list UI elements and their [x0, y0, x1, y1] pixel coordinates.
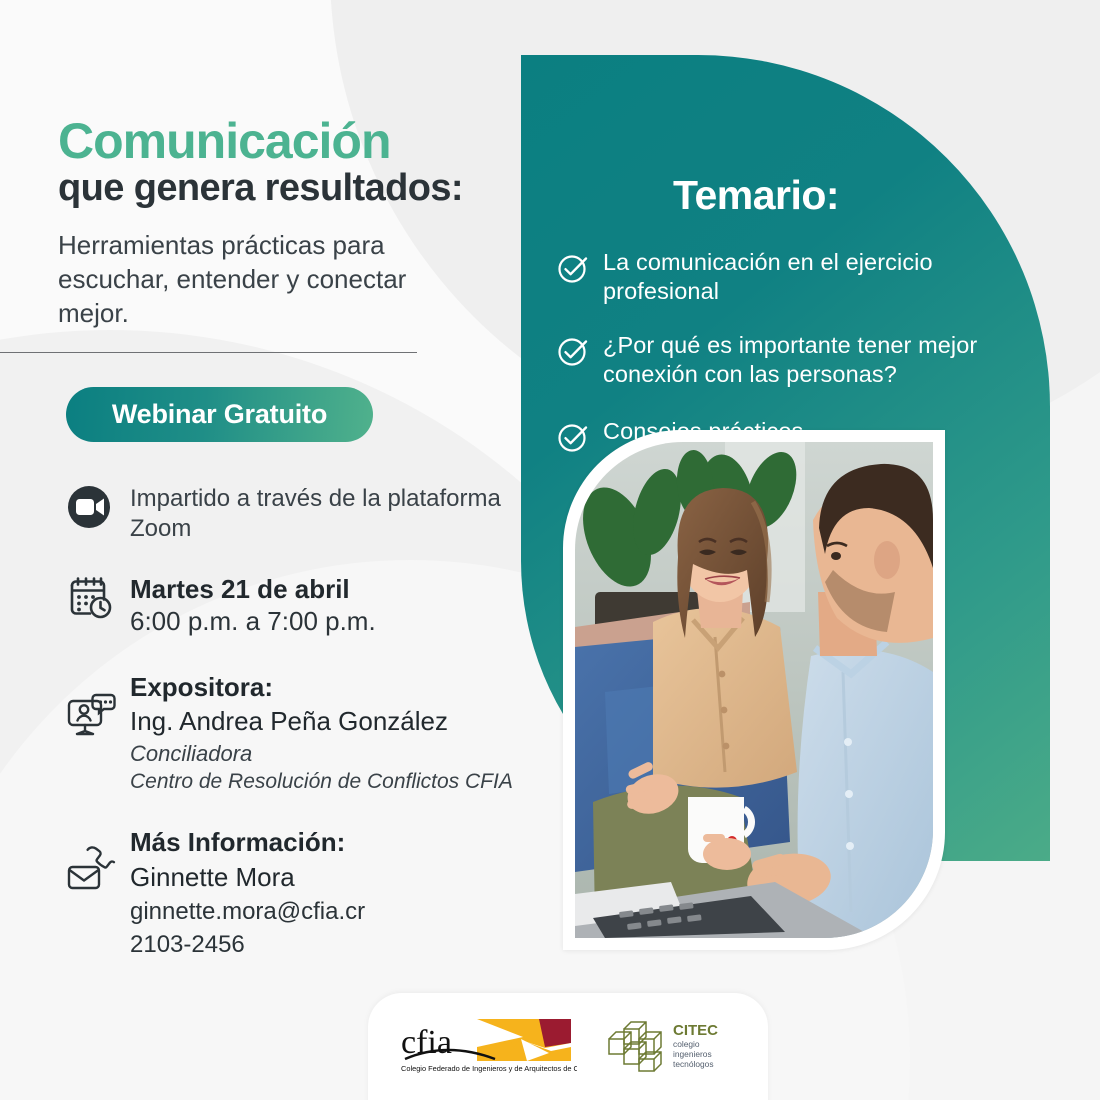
- agenda-item: La comunicación en el ejercicio profesio…: [556, 248, 1036, 306]
- webinar-badge: Webinar Gratuito: [66, 387, 373, 442]
- check-circle-icon: [556, 420, 590, 454]
- contact-row: Más Información: Ginnette Mora ginnette.…: [66, 825, 365, 961]
- mail-phone-icon: [66, 843, 118, 893]
- agenda-item-text: ¿Por qué es importante tener mejor conex…: [603, 331, 1036, 389]
- cfia-logo: cfia Colegio Federado de Ingenieros y de…: [399, 1017, 577, 1075]
- schedule-row: Martes 21 de abril 6:00 p.m. a 7:00 p.m.: [66, 573, 376, 638]
- check-circle-icon: [556, 334, 590, 368]
- svg-text:tecnólogos: tecnólogos: [673, 1059, 714, 1069]
- photo-frame: [563, 430, 945, 950]
- citec-logo: CITEC colegio ingenieros tecnólogos: [605, 1017, 737, 1075]
- speaker-row: Expositora: Ing. Andrea Peña González Co…: [66, 670, 513, 796]
- schedule-text-group: Martes 21 de abril 6:00 p.m. a 7:00 p.m.: [130, 573, 376, 638]
- speaker-label: Expositora:: [130, 670, 513, 704]
- contact-email: ginnette.mora@cfia.cr: [130, 895, 365, 928]
- speaker-role: Conciliadora: [130, 739, 513, 768]
- calendar-clock-icon: [66, 573, 118, 621]
- poster-canvas: Temario: La comunicación en el ejercicio…: [0, 0, 1100, 1100]
- footer-logo-card: cfia Colegio Federado de Ingenieros y de…: [368, 993, 768, 1100]
- speaker-organization: Centro de Resolución de Conflictos CFIA: [130, 768, 513, 796]
- page-title-line1: Comunicación: [58, 112, 390, 170]
- page-title-line2: que genera resultados:: [58, 167, 463, 210]
- svg-text:Colegio Federado de Ingenieros: Colegio Federado de Ingenieros y de Arqu…: [401, 1064, 577, 1073]
- video-camera-icon: [66, 484, 118, 530]
- presenter-screen-icon: [66, 692, 118, 740]
- agenda-title: Temario:: [521, 172, 991, 219]
- contact-phone: 2103-2456: [130, 928, 365, 961]
- agenda-item: ¿Por qué es importante tener mejor conex…: [556, 331, 1036, 389]
- contact-name: Ginnette Mora: [130, 859, 365, 895]
- svg-text:cfia: cfia: [401, 1024, 452, 1061]
- conversation-photo: [575, 442, 933, 938]
- svg-text:colegio: colegio: [673, 1039, 700, 1049]
- contact-label: Más Información:: [130, 825, 365, 859]
- svg-text:ingenieros: ingenieros: [673, 1049, 712, 1059]
- platform-text: Impartido a través de la plataforma Zoom: [130, 484, 528, 544]
- schedule-date: Martes 21 de abril: [130, 573, 376, 605]
- contact-text-group: Más Información: Ginnette Mora ginnette.…: [130, 825, 365, 961]
- page-subtitle: Herramientas prácticas para escuchar, en…: [58, 228, 478, 330]
- speaker-name: Ing. Andrea Peña González: [130, 704, 513, 739]
- svg-text:CITEC: CITEC: [673, 1022, 718, 1039]
- platform-row: Impartido a través de la plataforma Zoom: [66, 484, 528, 544]
- speaker-text-group: Expositora: Ing. Andrea Peña González Co…: [130, 670, 513, 796]
- section-divider: [0, 352, 417, 353]
- schedule-time: 6:00 p.m. a 7:00 p.m.: [130, 605, 376, 638]
- check-circle-icon: [556, 251, 590, 285]
- agenda-item-text: La comunicación en el ejercicio profesio…: [603, 248, 1036, 306]
- logo-group: cfia Colegio Federado de Ingenieros y de…: [399, 993, 737, 1075]
- left-content-column: Comunicación que genera resultados: Herr…: [58, 0, 528, 1100]
